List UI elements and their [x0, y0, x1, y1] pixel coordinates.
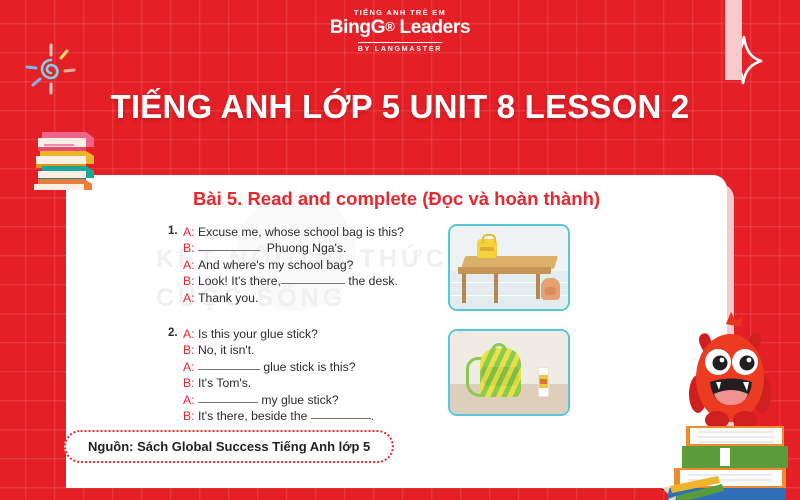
- brand-logo: TIẾNG ANH TRẺ EM BingG® Leaders BY LANGM…: [0, 8, 800, 56]
- source-badge: Nguồn: Sách Global Success Tiếng Anh lớp…: [64, 430, 394, 463]
- desk-leg: [462, 273, 466, 303]
- backpack-flap: [482, 367, 519, 386]
- speaker-label: B:: [183, 342, 198, 358]
- logo-brand: BingG® Leaders: [0, 18, 800, 38]
- logo-brand-main: BingG: [330, 17, 386, 38]
- dialogue-column: 1. A: Excuse me, whose school bag is thi…: [168, 224, 430, 430]
- answer-blank[interactable]: [281, 273, 345, 284]
- backpack-with-glue-stick-picture: [448, 329, 570, 416]
- desk-leg: [494, 273, 498, 303]
- dialogue-line: A: my glue stick?: [183, 392, 430, 408]
- line-text: And where's my school bag?: [198, 257, 353, 273]
- line-text-after: my glue stick?: [261, 392, 338, 408]
- logo-brand-tail: Leaders: [395, 17, 471, 38]
- orange-backpack-icon: [541, 278, 560, 300]
- lesson-heading: Bài 5. Read and complete (Đọc và hoàn th…: [66, 188, 727, 210]
- speaker-label: B:: [183, 273, 198, 289]
- card-shadow-strip: [725, 0, 742, 80]
- glue-stick-icon: [538, 367, 549, 397]
- desk-apron: [458, 267, 551, 274]
- line-text: Excuse me, whose school bag is this?: [198, 224, 404, 240]
- answer-blank[interactable]: [198, 392, 258, 403]
- speaker-label: A:: [183, 290, 198, 306]
- speaker-label: A:: [183, 359, 198, 375]
- line-text: No, it isn't.: [198, 342, 255, 358]
- speaker-label: A:: [183, 257, 198, 273]
- speaker-label: B:: [183, 240, 198, 256]
- speaker-label: A:: [183, 392, 198, 408]
- dialogue-line: A: glue stick is this?: [183, 359, 430, 375]
- dialogue-line: A: Is this your glue stick?: [183, 326, 430, 342]
- dialogue-line: B: It's Tom's.: [183, 375, 430, 391]
- exercise-block-1: 1. A: Excuse me, whose school bag is thi…: [168, 224, 430, 306]
- line-text: Is this your glue stick?: [198, 326, 318, 342]
- yellow-school-bag-icon: [477, 239, 497, 258]
- logo-byline: BY LANGMASTER: [358, 42, 442, 53]
- dialogue-line: A: Excuse me, whose school bag is this?: [183, 224, 430, 240]
- dialogue-line: A: Thank you.: [183, 290, 430, 306]
- desk-with-bags-picture: [448, 224, 570, 311]
- exercise-block-2: 2. A: Is this your glue stick? B: No, it…: [168, 326, 430, 424]
- logo-kicker: TIẾNG ANH TRẺ EM: [0, 8, 800, 17]
- logo-registered-icon: ®: [385, 19, 394, 34]
- line-text-after: .: [371, 408, 374, 424]
- line-text: Phuong Nga's.: [267, 240, 347, 256]
- desk-leg: [536, 271, 540, 299]
- exercise-area: 1. A: Excuse me, whose school bag is thi…: [168, 224, 727, 430]
- speaker-label: A:: [183, 224, 198, 240]
- line-text: It's Tom's.: [198, 375, 251, 391]
- dialogue-line: B: Phuong Nga's.: [183, 240, 430, 256]
- line-text-after: the desk.: [348, 273, 397, 289]
- answer-blank[interactable]: [198, 359, 260, 370]
- line-text-after: glue stick is this?: [263, 359, 355, 375]
- speaker-label: B:: [183, 375, 198, 391]
- exercise-lines-2: A: Is this your glue stick? B: No, it is…: [183, 326, 430, 424]
- exercise-number-1: 1.: [168, 224, 183, 306]
- picture-column: [448, 224, 580, 430]
- exercise-number-2: 2.: [168, 326, 183, 424]
- line-text: It's there, beside the: [198, 408, 307, 424]
- dialogue-line: B: It's there, beside the .: [183, 408, 430, 424]
- line-text: Thank you.: [198, 290, 258, 306]
- monster-mascot-icon: [660, 290, 800, 500]
- book-stack-icon: [24, 120, 108, 190]
- answer-blank[interactable]: [311, 408, 371, 419]
- speaker-label: B:: [183, 408, 198, 424]
- speaker-label: A:: [183, 326, 198, 342]
- page-title: TIẾNG ANH LỚP 5 UNIT 8 LESSON 2: [0, 88, 800, 126]
- answer-blank[interactable]: [198, 240, 260, 251]
- line-text: Look! It's there,: [198, 273, 281, 289]
- dialogue-line: B: Look! It's there, the desk.: [183, 273, 430, 289]
- dialogue-line: B: No, it isn't.: [183, 342, 430, 358]
- exercise-lines-1: A: Excuse me, whose school bag is this? …: [183, 224, 430, 306]
- dialogue-line: A: And where's my school bag?: [183, 257, 430, 273]
